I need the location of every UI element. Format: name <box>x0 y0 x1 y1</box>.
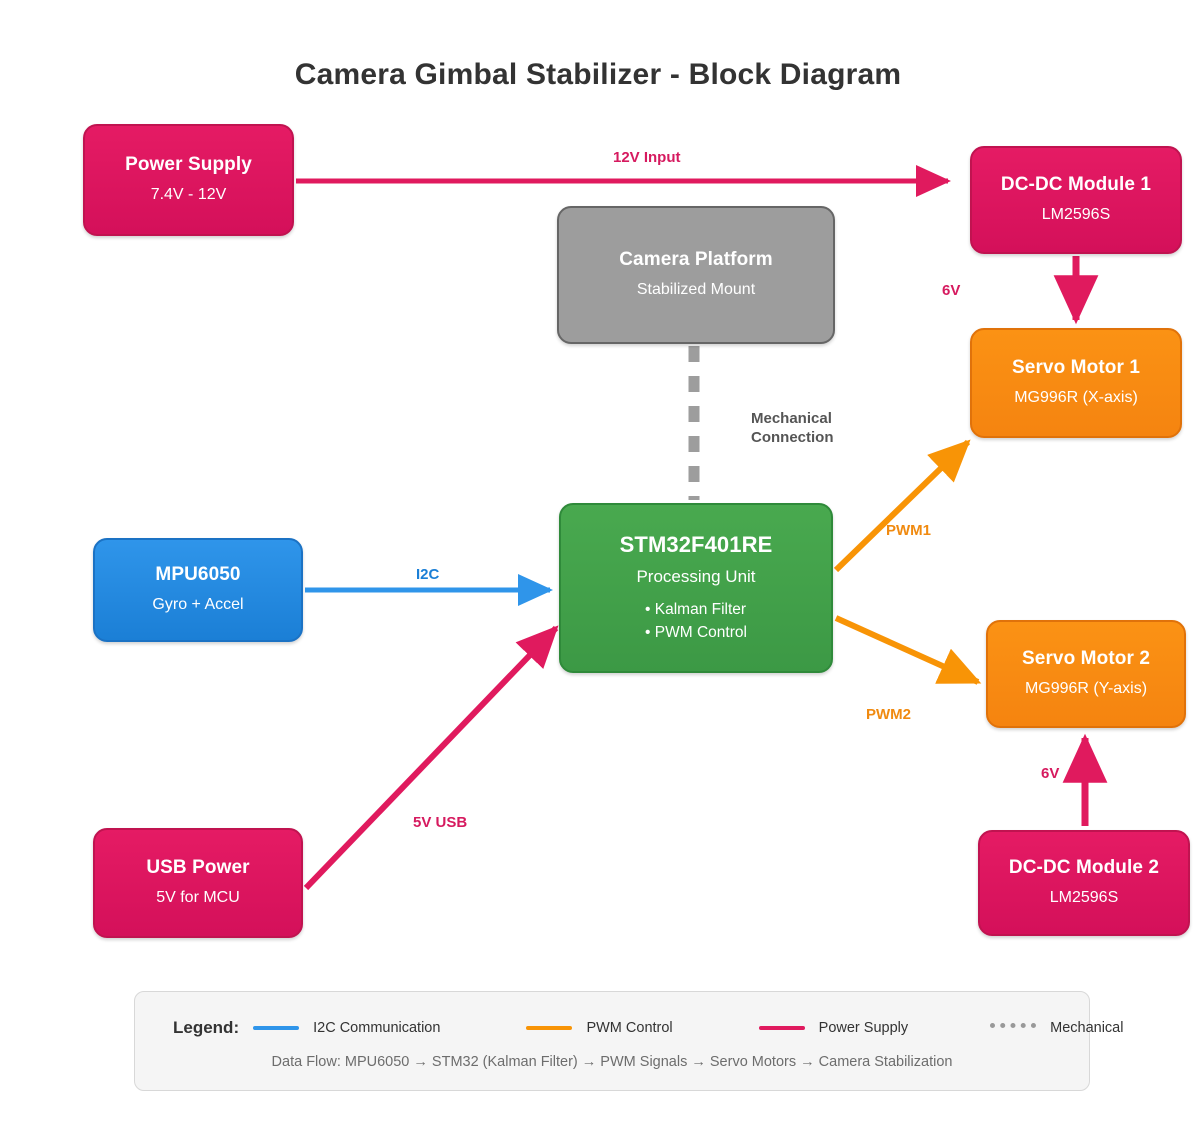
node-subtitle: LM2596S <box>1042 205 1111 226</box>
node-title: Power Supply <box>125 154 252 176</box>
node-subtitle: Gyro + Accel <box>152 595 243 616</box>
legend-item-power: Power Supply <box>759 1020 908 1036</box>
edge-label-pwm1: PWM1 <box>886 521 931 540</box>
node-title: DC-DC Module 2 <box>1009 857 1159 879</box>
legend-row: Legend: I2C Communication PWM Control Po… <box>135 1012 1089 1044</box>
node-feature-item: • Kalman Filter <box>645 599 747 622</box>
legend-item-mechanical: Mechanical <box>990 1020 1123 1036</box>
legend-item-pwm: PWM Control <box>526 1020 672 1036</box>
node-servo-motor-1[interactable]: Servo Motor 1 MG996R (X-axis) <box>970 328 1182 438</box>
legend-item-label: Mechanical <box>1050 1020 1123 1036</box>
node-mpu6050[interactable]: MPU6050 Gyro + Accel <box>93 538 303 642</box>
legend-line-swatch-icon <box>253 1026 299 1030</box>
node-servo-motor-2[interactable]: Servo Motor 2 MG996R (Y-axis) <box>986 620 1186 728</box>
legend-line-swatch-icon <box>526 1026 572 1030</box>
edge-label-pwm2: PWM2 <box>866 705 911 724</box>
node-dcdc-module-1[interactable]: DC-DC Module 1 LM2596S <box>970 146 1182 254</box>
node-subtitle: MG996R (Y-axis) <box>1025 679 1147 700</box>
node-dcdc-module-2[interactable]: DC-DC Module 2 LM2596S <box>978 830 1190 936</box>
edge-label-line-1: Mechanical <box>751 409 834 428</box>
node-subtitle: 7.4V - 12V <box>151 185 227 206</box>
block-diagram-canvas: Camera Gimbal Stabilizer - Block Diagram <box>0 0 1196 1121</box>
legend-line-swatch-icon <box>759 1026 805 1030</box>
node-usb-power[interactable]: USB Power 5V for MCU <box>93 828 303 938</box>
node-power-supply[interactable]: Power Supply 7.4V - 12V <box>83 124 294 236</box>
edge-label-i2c: I2C <box>416 565 439 584</box>
edge-usb-power-to-stm32 <box>306 628 556 888</box>
edge-label-6v-dcdc2: 6V <box>1041 764 1059 783</box>
legend-item-label: I2C Communication <box>313 1020 440 1036</box>
node-subtitle: LM2596S <box>1050 888 1119 909</box>
node-title: MPU6050 <box>155 564 240 586</box>
edge-label-line-2: Connection <box>751 428 834 447</box>
legend-item-i2c: I2C Communication <box>253 1020 440 1036</box>
node-stm32f401re[interactable]: STM32F401RE Processing Unit • Kalman Fil… <box>559 503 833 673</box>
node-feature-list: • Kalman Filter • PWM Control <box>645 599 747 645</box>
edge-label-12v-input: 12V Input <box>613 148 681 167</box>
node-title: STM32F401RE <box>620 532 773 558</box>
node-title: Servo Motor 2 <box>1022 648 1150 670</box>
page-title: Camera Gimbal Stabilizer - Block Diagram <box>0 58 1196 92</box>
node-subtitle: 5V for MCU <box>156 888 240 909</box>
node-title: Servo Motor 1 <box>1012 357 1140 379</box>
node-subtitle: MG996R (X-axis) <box>1014 388 1138 409</box>
node-title: DC-DC Module 1 <box>1001 174 1151 196</box>
edge-label-5v-usb: 5V USB <box>413 813 467 832</box>
legend-item-label: PWM Control <box>586 1020 672 1036</box>
legend-title: Legend: <box>173 1018 239 1038</box>
edge-label-mechanical-connection: Mechanical Connection <box>751 409 834 447</box>
legend-panel: Legend: I2C Communication PWM Control Po… <box>134 991 1090 1091</box>
node-title: USB Power <box>146 857 249 879</box>
node-camera-platform[interactable]: Camera Platform Stabilized Mount <box>557 206 835 344</box>
edge-label-6v-dcdc1: 6V <box>942 281 960 300</box>
node-feature-item: • PWM Control <box>645 622 747 645</box>
node-subtitle: Processing Unit <box>636 566 755 588</box>
edge-stm32-to-servo2-pwm2 <box>836 618 978 682</box>
edge-stm32-to-servo1-pwm1 <box>836 442 968 570</box>
legend-item-label: Power Supply <box>819 1020 908 1036</box>
node-subtitle: Stabilized Mount <box>637 280 755 301</box>
node-title: Camera Platform <box>619 249 773 271</box>
legend-data-flow-text: Data Flow: MPU6050 → STM32 (Kalman Filte… <box>135 1054 1089 1070</box>
legend-dashed-swatch-icon <box>990 1023 1036 1033</box>
